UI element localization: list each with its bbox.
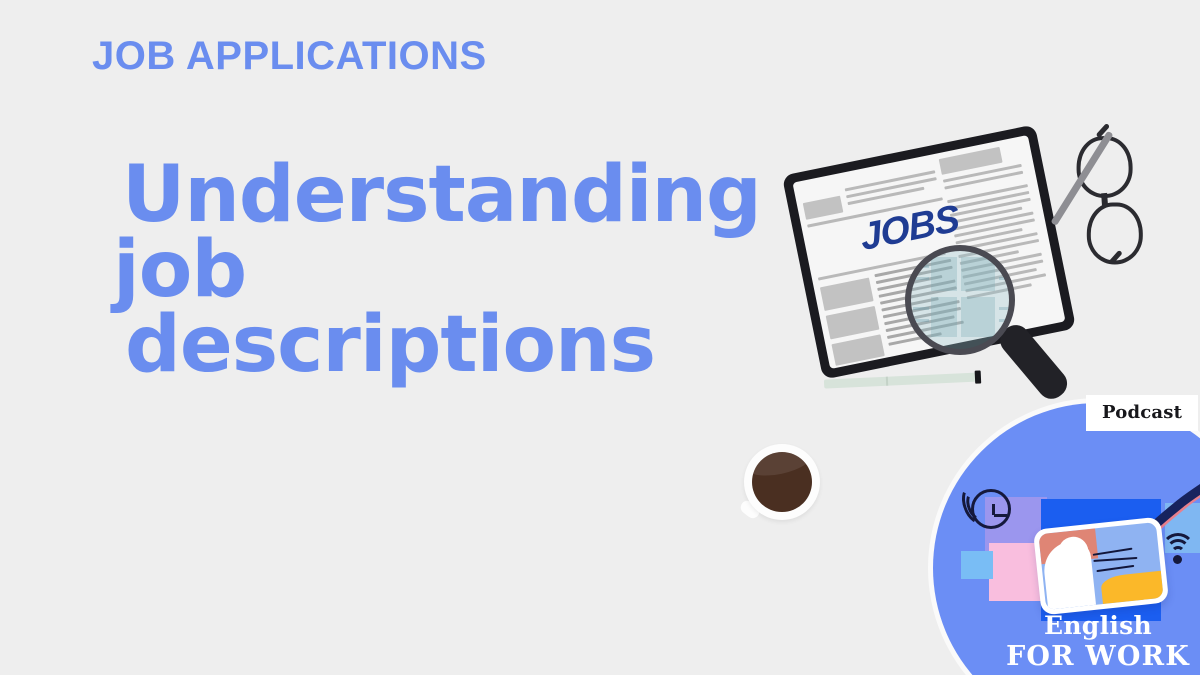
magnifier-lens	[905, 245, 1015, 355]
clock-face	[971, 489, 1011, 529]
wifi-signal-icon	[1159, 531, 1199, 569]
newspaper-image-block	[803, 196, 844, 220]
newspaper-image-block	[826, 306, 880, 339]
wifi-dot	[1173, 555, 1182, 564]
page-title-line-1: Understanding	[96, 158, 796, 233]
podcast-title: English FOR WORK	[933, 611, 1200, 672]
badge-art-yellow	[1100, 570, 1164, 604]
podcast-circle-fill: English FOR WORK	[933, 403, 1200, 675]
lens-content-line	[913, 307, 929, 310]
podcast-tag-label: Podcast	[1086, 395, 1198, 431]
lens-content-block	[931, 297, 957, 337]
podcast-title-line-1: English	[933, 611, 1200, 640]
badge-art-wave	[1093, 557, 1137, 562]
slide-canvas: JOB APPLICATIONS Understanding job descr…	[0, 0, 1200, 675]
lens-content-line	[913, 265, 929, 268]
lens-content-block	[961, 257, 995, 291]
podcast-title-line-2: FOR WORK	[933, 641, 1200, 672]
id-badge-icon	[1033, 517, 1169, 616]
podcast-branding-circle: English FOR WORK	[928, 398, 1200, 675]
lens-content-line	[913, 319, 929, 322]
newspaper-image-block	[820, 277, 874, 310]
lens-content-line	[913, 277, 929, 280]
lens-content-line	[999, 307, 1015, 310]
coffee-highlight	[752, 452, 812, 481]
pen-tip	[975, 370, 982, 383]
page-title-line-2: job	[96, 233, 796, 308]
page-title-line-3: descriptions	[96, 308, 796, 383]
badge-artwork	[1038, 522, 1163, 610]
clock-hand-minute	[994, 514, 1007, 517]
glasses-bridge	[1101, 193, 1108, 207]
lens-content-line	[999, 265, 1015, 268]
alarm-clock-icon	[963, 481, 1015, 533]
magnifying-glass-icon	[905, 245, 1027, 367]
badge-art-wave	[1093, 548, 1133, 556]
page-title: Understanding job descriptions	[96, 158, 796, 383]
lens-content-line	[999, 277, 1015, 280]
deco-square-cyan	[961, 551, 993, 579]
badge-art-wave	[1096, 565, 1134, 572]
eyebrow-label: JOB APPLICATIONS	[92, 34, 487, 79]
pen-seam	[886, 377, 888, 386]
pen-icon	[824, 372, 981, 388]
coffee-cup-icon	[744, 444, 820, 520]
lens-content-block	[961, 297, 995, 337]
lens-content-block	[931, 257, 957, 291]
coffee-liquid	[752, 452, 812, 512]
lens-content-line	[999, 319, 1015, 322]
eyeglasses-icon	[1043, 119, 1172, 288]
